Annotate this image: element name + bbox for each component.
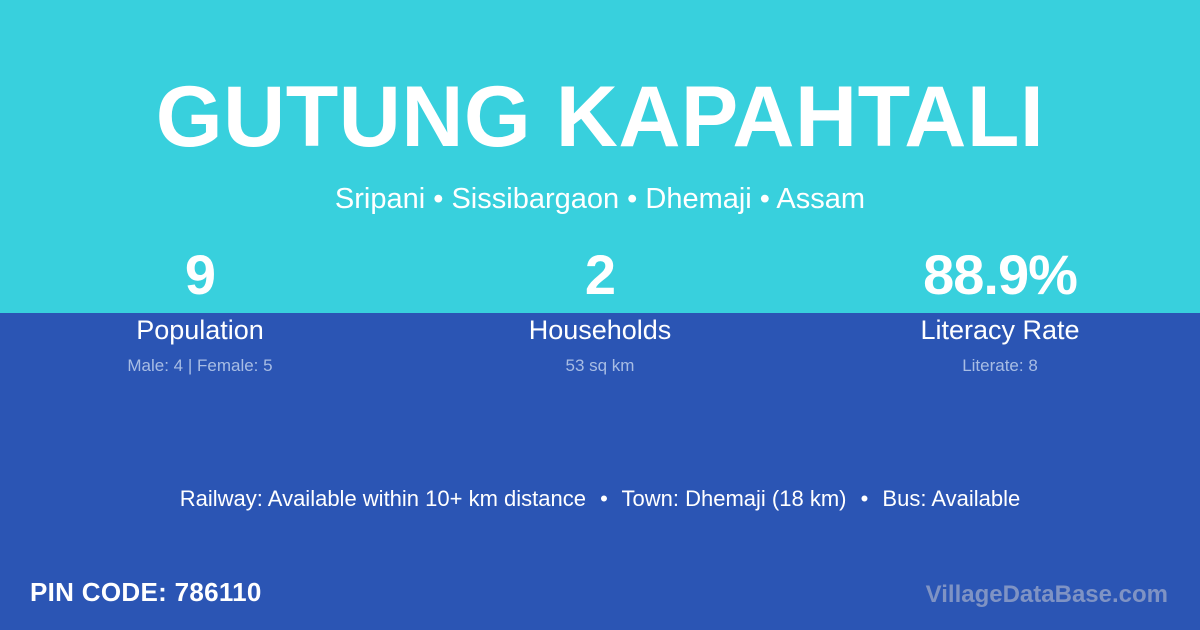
stat-population: 9 Population Male: 4 | Female: 5 bbox=[0, 244, 400, 377]
village-info-card: GUTUNG KAPAHTALI Sripani • Sissibargaon … bbox=[0, 0, 1200, 630]
stat-households: 2 Households 53 sq km bbox=[400, 244, 800, 377]
facility-railway: Railway: Available within 10+ km distanc… bbox=[180, 486, 586, 511]
stat-population-value: 9 bbox=[0, 244, 400, 306]
stat-population-sub: Male: 4 | Female: 5 bbox=[0, 355, 400, 377]
facility-separator-1: • bbox=[592, 484, 616, 514]
village-location-breadcrumb: Sripani • Sissibargaon • Dhemaji • Assam bbox=[0, 182, 1200, 217]
facility-bus: Bus: Available bbox=[882, 486, 1020, 511]
stat-literacy-rate: 88.9% Literacy Rate Literate: 8 bbox=[800, 244, 1200, 377]
stat-literacy-rate-sub: Literate: 8 bbox=[800, 355, 1200, 377]
facility-separator-2: • bbox=[853, 484, 877, 514]
stats-row: 9 Population Male: 4 | Female: 5 2 House… bbox=[0, 244, 1200, 377]
stat-population-label: Population bbox=[0, 313, 400, 347]
stat-households-label: Households bbox=[400, 313, 800, 347]
site-watermark: VillageDataBase.com bbox=[926, 580, 1168, 610]
stat-households-sub: 53 sq km bbox=[400, 355, 800, 377]
page-title: GUTUNG KAPAHTALI bbox=[0, 74, 1200, 160]
pin-code: PIN CODE: 786110 bbox=[30, 576, 262, 608]
facilities-line: Railway: Available within 10+ km distanc… bbox=[0, 484, 1200, 514]
stat-literacy-rate-value: 88.9% bbox=[800, 244, 1200, 306]
facility-town: Town: Dhemaji (18 km) bbox=[622, 486, 847, 511]
stat-literacy-rate-label: Literacy Rate bbox=[800, 313, 1200, 347]
stat-households-value: 2 bbox=[400, 244, 800, 306]
